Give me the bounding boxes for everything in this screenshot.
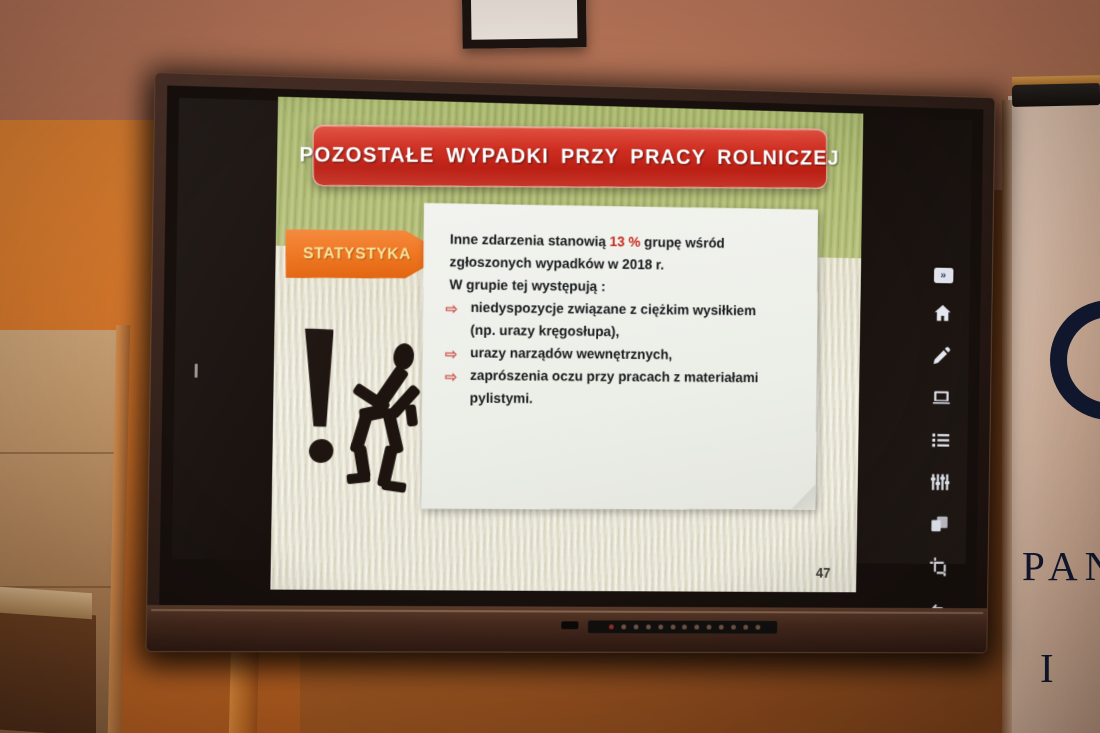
- card-bullet-3-cont: pylistymi.: [448, 388, 803, 413]
- crop-icon[interactable]: [927, 554, 951, 579]
- banner-text-line1: PAN: [1022, 546, 1100, 587]
- bezel-highlight: [151, 609, 983, 614]
- arrow-bullet-icon: ⇨: [445, 343, 457, 367]
- card-bullet-3: ⇨zaprószenia oczu przy pracach z materia…: [449, 365, 804, 390]
- display-bottom-bezel: [146, 605, 986, 652]
- arrow-bullet-icon: ⇨: [445, 366, 457, 390]
- bullet-1-text: niedyspozycje związane z ciężkim wysiłki…: [471, 300, 757, 319]
- interactive-display: POZOSTAŁE WYPADKI PRZY PRACY ROLNICZEJ S…: [145, 72, 995, 653]
- wall-framed-picture: [461, 0, 586, 49]
- display-toolbar[interactable]: »: [917, 267, 965, 608]
- falling-person-pictogram: [343, 342, 433, 482]
- room-scene: PAN I POZOSTAŁE WYPADKI PRZY PRACY ROLNI…: [0, 0, 1100, 733]
- display-frame: POZOSTAŁE WYPADKI PRZY PRACY ROLNICZEJ S…: [145, 72, 995, 653]
- screen-edge-mark: [195, 364, 198, 378]
- pen-icon[interactable]: [930, 343, 954, 368]
- arrow-bullet-icon: ⇨: [445, 298, 457, 322]
- sliders-icon[interactable]: [928, 469, 952, 494]
- windows-icon[interactable]: [927, 512, 951, 537]
- lead-highlight: 13 %: [610, 234, 641, 250]
- lead-before: Inne zdarzenia stanowią: [450, 232, 610, 250]
- cabinet-seam: [0, 452, 118, 454]
- exclamation-mark-icon: [300, 328, 335, 428]
- expand-toolbar-button[interactable]: »: [933, 268, 953, 284]
- slide-artwork: [290, 324, 429, 484]
- home-icon[interactable]: [931, 300, 955, 325]
- slide-title-banner: POZOSTAŁE WYPADKI PRZY PRACY ROLNICZEJ: [312, 125, 827, 189]
- statystyka-badge-label: STATYSTYKA: [285, 245, 411, 264]
- undo-arrow-icon[interactable]: [926, 596, 950, 608]
- list-icon[interactable]: [929, 427, 953, 452]
- card-folded-corner: [791, 484, 816, 509]
- slide-content-card: Inne zdarzenia stanowią 13 % grupę wśród…: [421, 203, 818, 509]
- bullet-3-text: zaprószenia oczu przy pracach z materiał…: [470, 368, 759, 386]
- banner-top-cap: [1012, 83, 1100, 107]
- card-bullet-2: ⇨urazy narządów wewnętrznych,: [449, 342, 804, 368]
- speaker-dots: [609, 623, 760, 630]
- card-bullet-1: ⇨niedyspozycje związane z ciężkim wysiłk…: [449, 297, 804, 324]
- exclamation-dot-icon: [306, 436, 337, 467]
- ir-sensor: [561, 621, 578, 629]
- lead-after: grupę wśród: [640, 235, 724, 252]
- slide-title-text: POZOSTAŁE WYPADKI PRZY PRACY ROLNICZEJ: [299, 143, 839, 170]
- presentation-slide: POZOSTAŁE WYPADKI PRZY PRACY ROLNICZEJ S…: [270, 97, 863, 593]
- card-text-block: Inne zdarzenia stanowią 13 % grupę wśród…: [448, 229, 804, 413]
- bullet-2-text: urazy narządów wewnętrznych,: [470, 345, 672, 363]
- laptop-icon[interactable]: [929, 385, 953, 410]
- banner-text-line2: I: [1040, 648, 1061, 689]
- shelf-shadow: [0, 609, 96, 733]
- display-screen: POZOSTAŁE WYPADKI PRZY PRACY ROLNICZEJ S…: [159, 85, 983, 608]
- slide-page-number: 47: [816, 565, 831, 581]
